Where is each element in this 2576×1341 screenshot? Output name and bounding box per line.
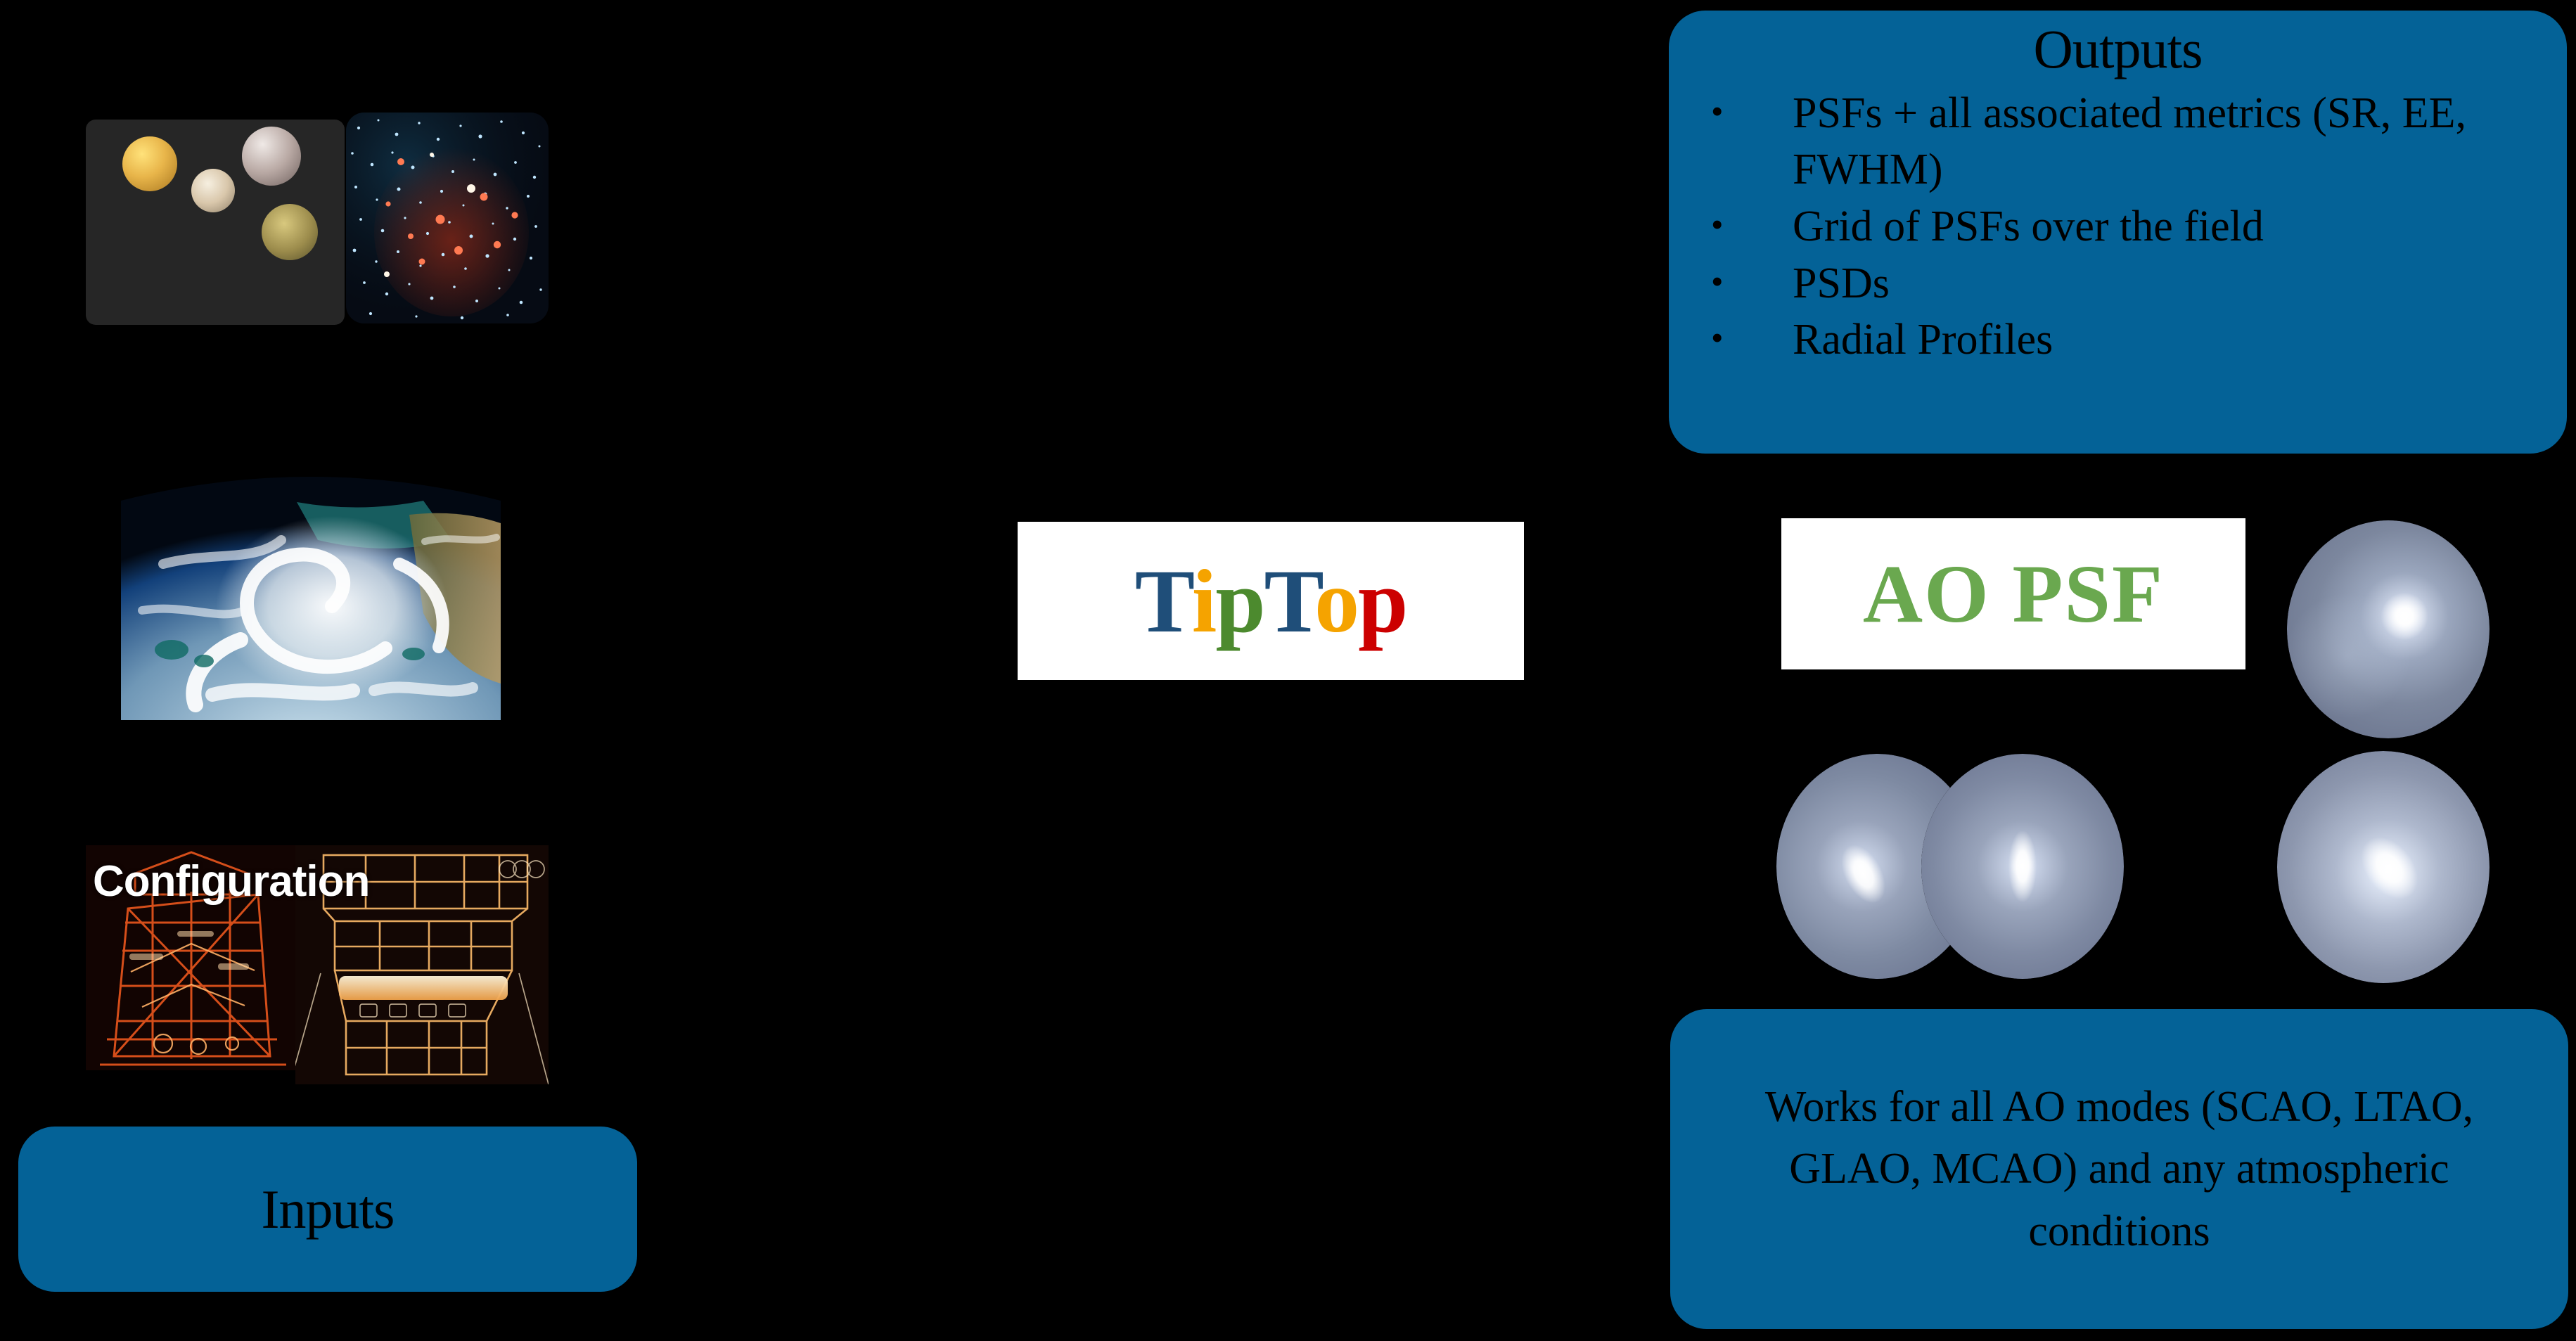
bullet-glyph: • [1711,89,1724,134]
list-item-label: PSFs + all associated metrics (SR, EE, F… [1793,89,2466,194]
bullet-glyph: • [1711,315,1724,361]
list-item-label: Grid of PSFs over the field [1793,203,2264,250]
earth-atmosphere-image [121,473,501,720]
psf-bottom-middle [1921,754,2124,979]
psf-bottom-right [2277,751,2490,983]
inputs-title: Inputs [262,1182,395,1237]
jupiter-and-moons-image [86,120,345,325]
tiptop-letter-0: T [1135,551,1192,651]
tiptop-letter-3: T [1264,551,1315,651]
ao-modes-text: Works for all AO modes (SCAO, LTAO, GLAO… [1705,1076,2535,1262]
list-item-label: Radial Profiles [1793,316,2053,364]
inputs-panel: Inputs [18,1127,637,1292]
moon-europa-graphic [191,169,235,212]
tiptop-letter-2: p [1215,551,1264,651]
moon-callisto-graphic [262,204,318,260]
list-item: • PSFs + all associated metrics (SR, EE,… [1669,85,2539,198]
outputs-panel: Outputs • PSFs + all associated metrics … [1669,11,2567,454]
tiptop-logo: TipTop [1018,522,1524,680]
ao-psf-logo-text: AO PSF [1863,553,2164,636]
list-item: • Grid of PSFs over the field [1669,198,2539,255]
moon-io-graphic [122,136,177,191]
star-field-graphic [346,113,549,323]
ao-modes-panel: Works for all AO modes (SCAO, LTAO, GLAO… [1670,1009,2568,1329]
star-cluster-image [346,113,549,323]
moon-ganymede-graphic [242,127,301,186]
list-item-label: PSDs [1793,259,1890,307]
earth-cyclone-graphic [121,473,501,720]
psf-top [2287,520,2490,738]
tiptop-letter-4: o [1314,551,1358,651]
list-item: • Radial Profiles [1669,312,2539,368]
outputs-list: • PSFs + all associated metrics (SR, EE,… [1669,85,2567,368]
jupiter-planet-graphic [86,184,304,325]
tiptop-letter-5: p [1358,551,1406,651]
outputs-title: Outputs [1669,20,2567,78]
bullet-glyph: • [1711,259,1724,304]
configuration-label: Configuration [93,856,369,906]
ao-psf-logo: AO PSF [1781,518,2245,669]
tiptop-logo-text: TipTop [1135,556,1407,646]
tiptop-letter-1: i [1192,551,1216,651]
list-item: • PSDs [1669,255,2539,312]
bullet-glyph: • [1711,202,1724,248]
